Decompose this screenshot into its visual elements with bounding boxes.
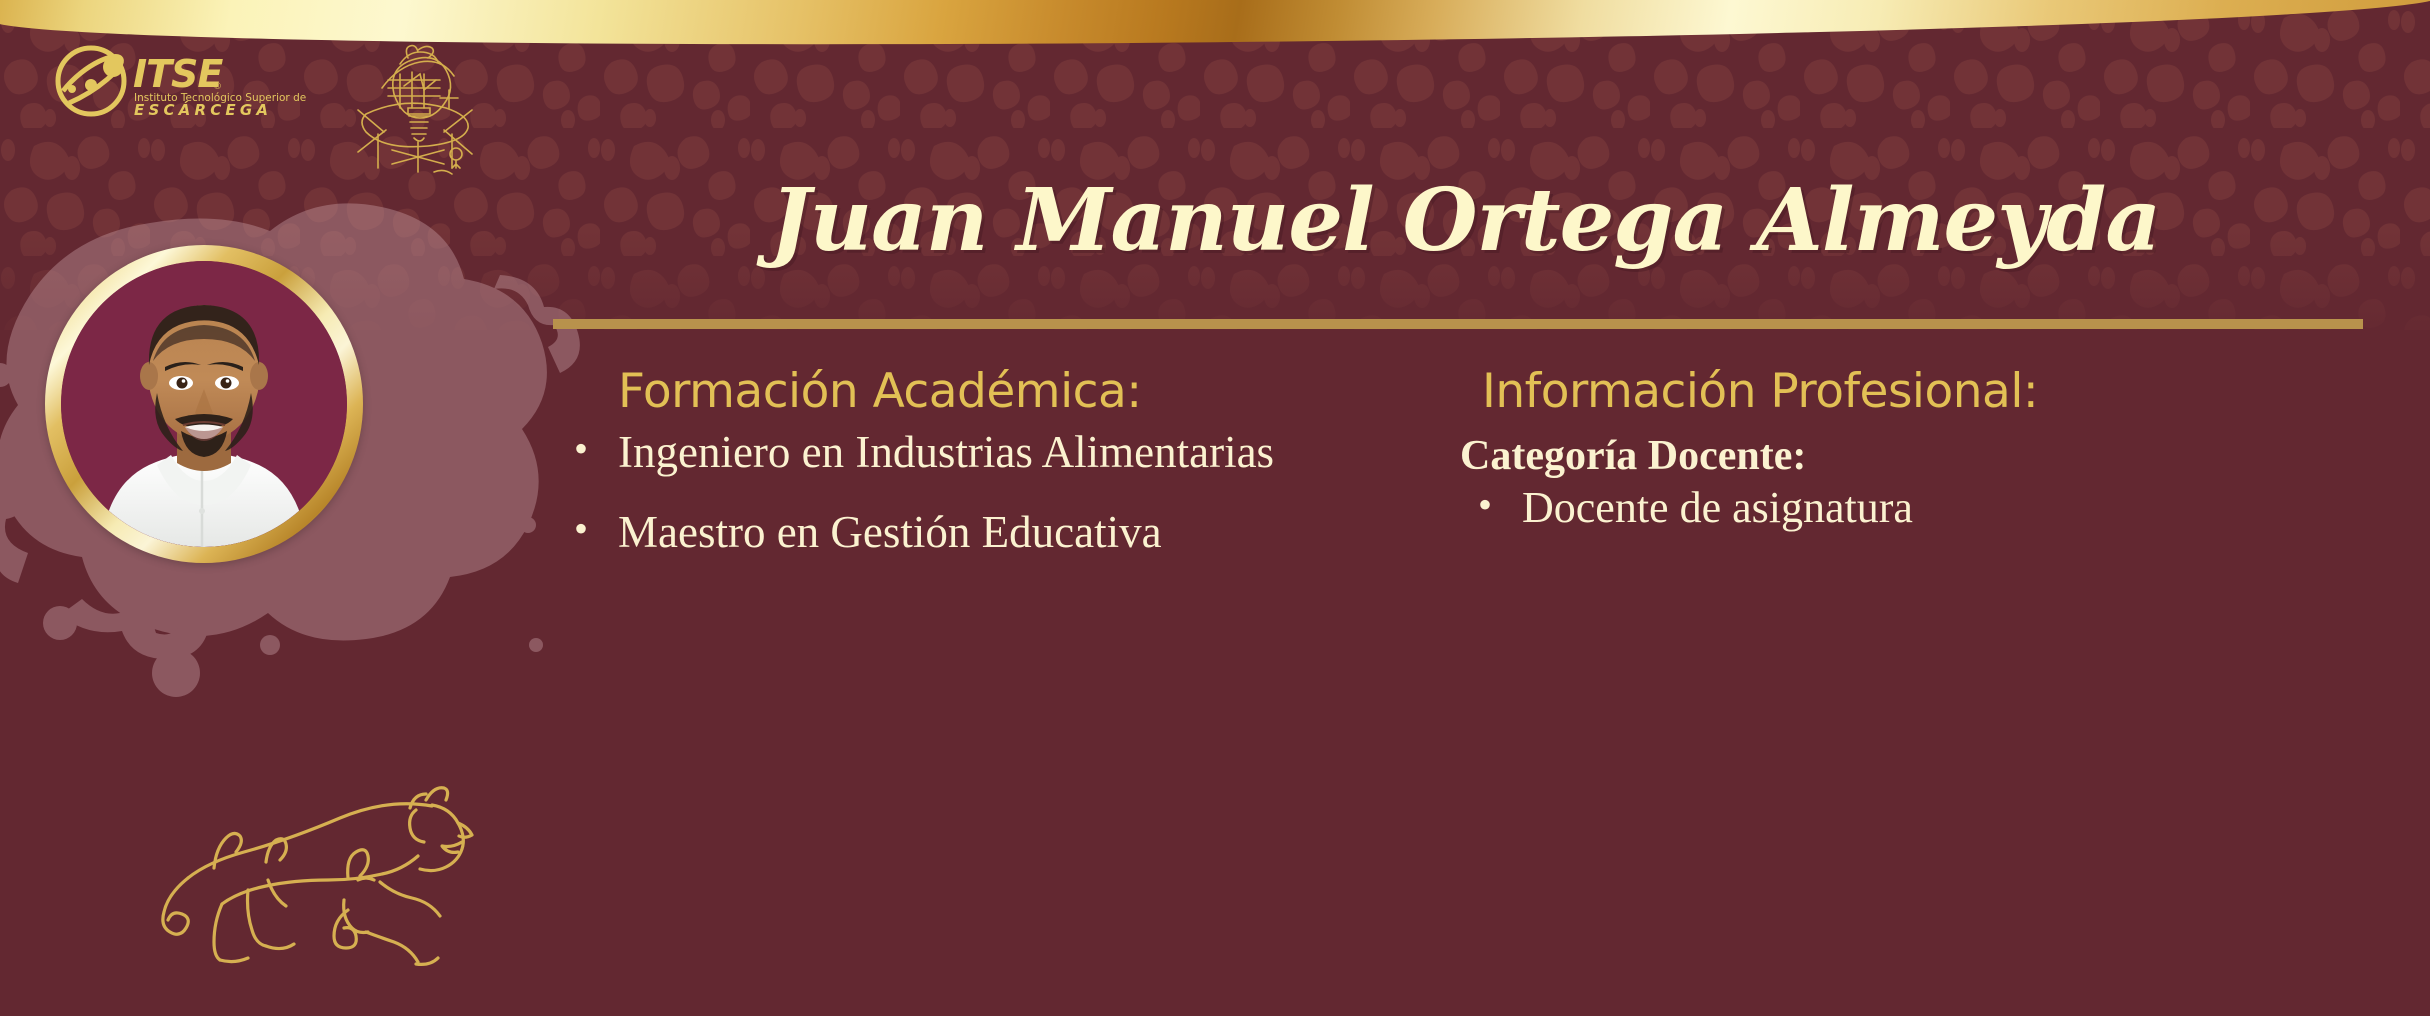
professional-heading: Información Profesional: [1460, 368, 2360, 415]
page-title: Juan Manuel Ortega Almeyda [560, 175, 2370, 266]
logo-registered: ® [213, 82, 222, 92]
list-item: Ingeniero en Industrias Alimentarias [560, 425, 1400, 481]
academic-section: Formación Académica: Ingeniero en Indust… [560, 368, 1400, 585]
professional-list: Docente de asignatura [1460, 481, 2360, 536]
academic-list: Ingeniero en Industrias Alimentarias Mae… [560, 425, 1400, 561]
list-item: Docente de asignatura [1460, 481, 2360, 536]
itse-orbit-icon [58, 48, 124, 114]
lightbulb-sketch-emblem [352, 42, 480, 178]
list-item: Maestro en Gestión Educativa [560, 505, 1400, 561]
profile-photo [61, 261, 347, 547]
profile-card: ITSE ® Instituto Tecnológico Superior de… [0, 0, 2430, 1016]
jaguar-line-art [80, 770, 500, 970]
gold-divider [553, 319, 2363, 329]
logo-line2: ESCÁRCEGA [134, 100, 272, 117]
teaching-category-label: Categoría Docente: [1460, 433, 2360, 479]
academic-heading: Formación Académica: [560, 368, 1400, 415]
avatar [45, 245, 363, 563]
logo-acronym: ITSE [133, 52, 223, 96]
professional-section: Información Profesional: Categoría Docen… [1460, 368, 2360, 548]
itse-logo: ITSE ® Instituto Tecnológico Superior de… [55, 45, 315, 117]
